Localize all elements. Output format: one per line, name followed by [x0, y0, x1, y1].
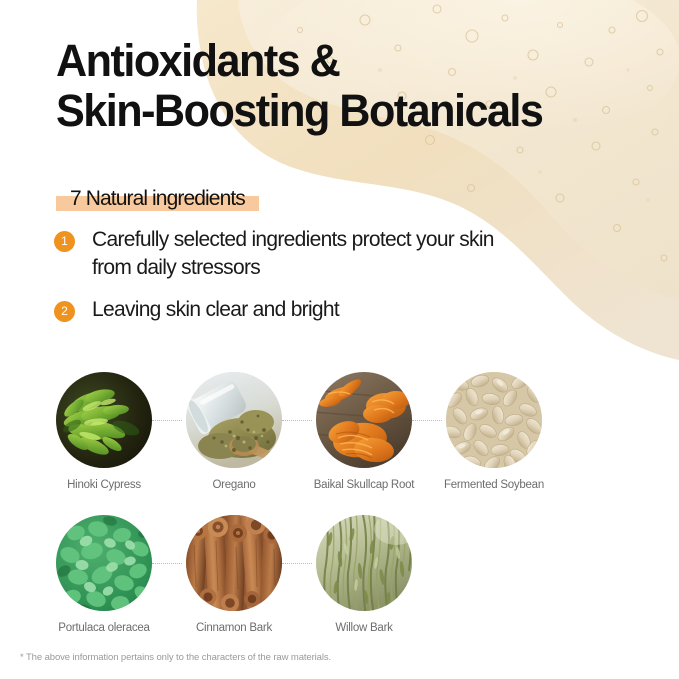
- ingredient-item-fermented-soybean[interactable]: Fermented Soybean: [438, 362, 550, 491]
- willow-bark-photo: [316, 515, 412, 611]
- hinoki-cypress-photo: [56, 372, 152, 468]
- subheading-container: 7 Natural ingredients: [56, 186, 259, 212]
- ingredient-item-baikal-skullcap-root[interactable]: Baikal Skullcap Root: [308, 362, 420, 491]
- ingredient-row-2: Portulaca oleracea: [0, 505, 679, 638]
- connector-dotted-line: [152, 563, 182, 564]
- bullet-text: Leaving skin clear and bright: [92, 296, 339, 324]
- subheading-label: 7 Natural ingredients: [70, 187, 245, 210]
- page-title-line-2: Skin-Boosting Botanicals: [56, 86, 542, 136]
- connector-dotted-line: [282, 420, 312, 421]
- list-item: 2 Leaving skin clear and bright: [54, 296, 524, 324]
- ingredient-label: Baikal Skullcap Root: [308, 479, 420, 491]
- bullet-number-badge: 1: [54, 231, 75, 252]
- subheading: 7 Natural ingredients: [56, 186, 259, 212]
- ingredient-item-oregano[interactable]: Oregano: [178, 362, 290, 491]
- portulaca-oleracea-photo: [56, 515, 152, 611]
- oregano-photo: [186, 372, 282, 468]
- list-item: 1 Carefully selected ingredients protect…: [54, 226, 524, 282]
- ingredient-grid: Hinoki Cypress: [0, 362, 679, 638]
- ingredient-label: Fermented Soybean: [438, 479, 550, 491]
- connector-dotted-line: [282, 563, 312, 564]
- connector-dotted-line: [152, 420, 182, 421]
- ingredient-item-hinoki-cypress[interactable]: Hinoki Cypress: [48, 362, 160, 491]
- ingredient-label: Willow Bark: [308, 622, 420, 634]
- ingredient-row-1: Hinoki Cypress: [0, 362, 679, 495]
- page-title-line-1: Antioxidants &: [56, 36, 542, 86]
- cinnamon-bark-photo: [186, 515, 282, 611]
- page-title: Antioxidants & Skin-Boosting Botanicals: [56, 36, 563, 136]
- baikal-skullcap-root-photo: [316, 372, 412, 468]
- footnote: * The above information pertains only to…: [20, 652, 331, 663]
- ingredient-label: Hinoki Cypress: [48, 479, 160, 491]
- ingredient-label: Cinnamon Bark: [178, 622, 290, 634]
- bullet-text: Carefully selected ingredients protect y…: [92, 226, 524, 282]
- ingredient-item-portulaca-oleracea[interactable]: Portulaca oleracea: [48, 505, 160, 634]
- ingredient-item-willow-bark[interactable]: Willow Bark: [308, 505, 420, 634]
- infographic-page: Antioxidants & Skin-Boosting Botanicals …: [0, 0, 679, 679]
- connector-dotted-line: [412, 420, 442, 421]
- ingredient-label: Portulaca oleracea: [48, 622, 160, 634]
- benefit-list: 1 Carefully selected ingredients protect…: [54, 226, 524, 338]
- fermented-soybean-photo: [446, 372, 542, 468]
- bullet-number-badge: 2: [54, 301, 75, 322]
- ingredient-label: Oregano: [178, 479, 290, 491]
- ingredient-item-cinnamon-bark[interactable]: Cinnamon Bark: [178, 505, 290, 634]
